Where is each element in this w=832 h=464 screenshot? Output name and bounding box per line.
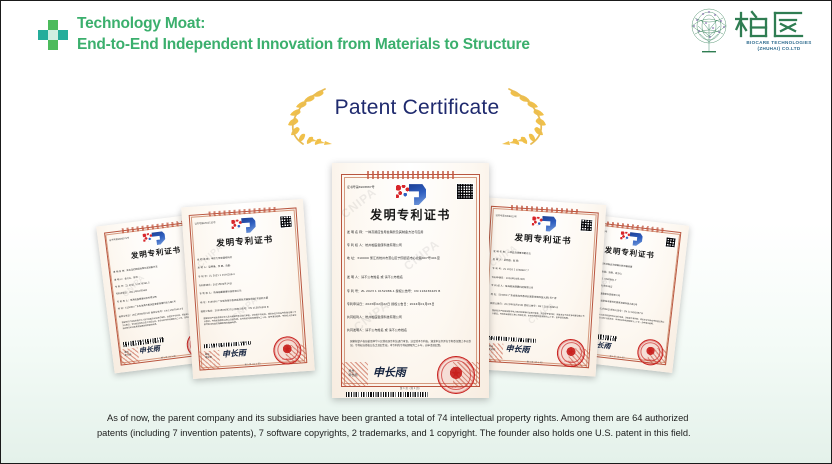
company-logo: BIOCARE TECHNOLOGIES (ZHUHAI) CO.LTD [683,5,825,57]
certificate-signature: 申长雨 [505,343,530,355]
cross-segment-right [58,30,68,40]
certificate-image-2[interactable]: 证书号第6562135号 发明专利证书 发 明 名 称：申压力传感器结构件 发 … [181,199,315,379]
slide-root: Technology Moat: End-to-End Independent … [0,0,832,464]
cnipa-emblem-icon [396,184,426,205]
logo-chinese-characters [735,9,805,39]
certificate-signature: 申长雨 [373,364,406,380]
logo-english-text: BIOCARE TECHNOLOGIES (ZHUHAI) CO.LTD [733,40,825,52]
certificate-field: 共同权利人：杭州柏医健康科技有限公司 [347,315,474,319]
cnipa-emblem-icon [531,215,556,232]
cnipa-p-shape [542,216,557,232]
caption-line-2: patents (including 7 invention patents),… [97,426,745,441]
cross-segment-bottom [48,40,58,50]
certificate-signature-label: 局长 申长雨 [488,345,495,352]
page-title-line-1: Technology Moat: [77,13,677,34]
certificate-footer: 第 1 页（共 1 页） [332,386,489,390]
certificate-signature-label: 局长 申长雨 [348,369,357,378]
section-banner: Patent Certificate [251,87,583,145]
certificate-signature: 申长雨 [222,348,247,361]
certificate-signature-label: 局长 申长雨 [205,353,212,360]
cnipa-p-shape [152,231,167,246]
laurel-right-icon [497,87,559,145]
cnipa-p-shape [629,232,643,247]
certificate-field: 共同发明人：请不公布姓名 或 请不公布姓名 [347,328,474,332]
cnipa-dots [396,185,410,198]
certificate-gallery: 证书号第6808971号 发明专利证书 发 明 名 称：高血压药物组合物及其制备… [1,151,832,406]
cnipa-emblem-icon [231,217,256,234]
qr-code [580,219,593,232]
qr-code [279,215,292,228]
certificate-title: 发明专利证书 [332,206,489,223]
certificate-serial-number: 证书号第6908887号 [347,185,375,189]
certificate-field: 专利申请日：2023年02月22日 授权公告日：2024年01月05日 [347,302,474,306]
certificate-field: 地 址：310000 浙江省杭州市萧山区宁围街道市心北路607号401室 [347,256,474,260]
certificate-field: 专 利 权 人：杭州柏医健康科技有限公司 [347,243,474,247]
certificate-image-4[interactable]: 证书号第3968823号 发明专利证书 发 明 名 称：一种血流储备测量方法 发… [474,197,607,376]
cnipa-p-shape [241,217,256,233]
page-title: Technology Moat: End-to-End Independent … [77,13,677,55]
certificate-paragraph: 国家知识产权局依照中华人民共和国专利法进行审查，决定授予专利权，颁发本证书并在专… [350,340,471,348]
cnipa-emblem-icon [142,231,166,247]
summary-caption: As of now, the parent company and its su… [97,411,745,440]
cnipa-p-shape [409,184,426,205]
logo-english-line-2: (ZHUHAI) CO.LTD [733,46,825,52]
certificate-field: 发 明 人：请不公布姓名 或 请不公布姓名 [347,275,474,279]
certificate-field: 专 利 号：ZL 2023 1 0152086.1 授权公告号：CN 11623… [347,289,474,293]
page-title-line-2: End-to-End Independent Innovation from M… [77,34,677,55]
certificate-signature-label: 局长 申长雨 [124,350,131,357]
qr-code [456,183,474,201]
slide-header: Technology Moat: End-to-End Independent … [1,1,832,63]
medical-cross-icon [38,20,68,50]
certificate-image-3[interactable]: 证书号第6908887号 发明专利证书 发 明 名 称：一种高顺应性导丝鞘管及其… [332,163,489,398]
barcode [346,392,428,397]
caption-line-1: As of now, the parent company and its su… [97,411,745,426]
cnipa-emblem-icon [619,231,643,247]
cross-segment-top [48,20,58,30]
logo-english-line-1: BIOCARE TECHNOLOGIES [746,40,811,45]
cross-segment-left [38,30,48,40]
cross-segment-center [48,30,58,40]
tree-icon [685,6,733,56]
certificate-top-ornament [367,171,455,179]
cnipa-dots [532,216,544,226]
certificate-field: 发 明 名 称：一种高顺应性导丝鞘管及其制备方法与应用 [347,230,474,234]
cnipa-dots [620,231,631,240]
cnipa-dots [231,219,243,229]
qr-code [664,237,676,249]
